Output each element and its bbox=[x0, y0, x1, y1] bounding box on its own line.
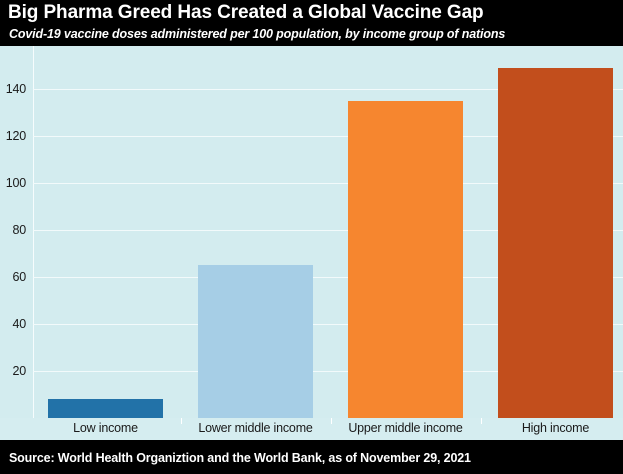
chart-footer: Source: World Health Organiztion and the… bbox=[0, 446, 623, 474]
y-axis-tick-mark bbox=[28, 136, 33, 137]
x-axis-tick-label: Lower middle income bbox=[198, 421, 312, 435]
x-axis-tick-mark bbox=[181, 418, 182, 424]
x-axis-tick-label: High income bbox=[522, 421, 589, 435]
y-axis-tick-label: 120 bbox=[0, 129, 26, 143]
source-note: Source: World Health Organiztion and the… bbox=[9, 451, 471, 465]
plot-area: 20406080100120140 bbox=[0, 46, 623, 440]
chart-figure: Big Pharma Greed Has Created a Global Va… bbox=[0, 0, 623, 474]
x-axis-tick-mark bbox=[481, 418, 482, 424]
y-axis-tick-label: 20 bbox=[0, 364, 26, 378]
x-axis-tick-label: Low income bbox=[73, 421, 138, 435]
y-axis-tick-mark bbox=[28, 277, 33, 278]
y-axis-tick-label: 80 bbox=[0, 223, 26, 237]
y-axis-tick-mark bbox=[28, 371, 33, 372]
y-axis-line bbox=[33, 46, 34, 418]
bar-lower-middle-income[interactable] bbox=[198, 265, 313, 418]
chart-header: Big Pharma Greed Has Created a Global Va… bbox=[0, 0, 623, 46]
bar-upper-middle-income[interactable] bbox=[348, 101, 463, 418]
y-axis-tick-mark bbox=[28, 89, 33, 90]
x-axis-tick-label: Upper middle income bbox=[348, 421, 462, 435]
page-title: Big Pharma Greed Has Created a Global Va… bbox=[8, 2, 484, 24]
y-axis-tick-label: 100 bbox=[0, 176, 26, 190]
y-axis-tick-label: 140 bbox=[0, 82, 26, 96]
bar-low-income[interactable] bbox=[48, 399, 163, 418]
x-axis-labels: Low incomeLower middle incomeUpper middl… bbox=[0, 418, 623, 440]
y-axis-tick-label: 60 bbox=[0, 270, 26, 284]
bar-high-income[interactable] bbox=[498, 68, 613, 418]
y-axis-tick-label: 40 bbox=[0, 317, 26, 331]
y-axis-tick-mark bbox=[28, 230, 33, 231]
y-axis-tick-mark bbox=[28, 324, 33, 325]
y-axis-tick-mark bbox=[28, 183, 33, 184]
x-axis-tick-mark bbox=[331, 418, 332, 424]
chart-subtitle: Covid-19 vaccine doses administered per … bbox=[9, 27, 505, 41]
